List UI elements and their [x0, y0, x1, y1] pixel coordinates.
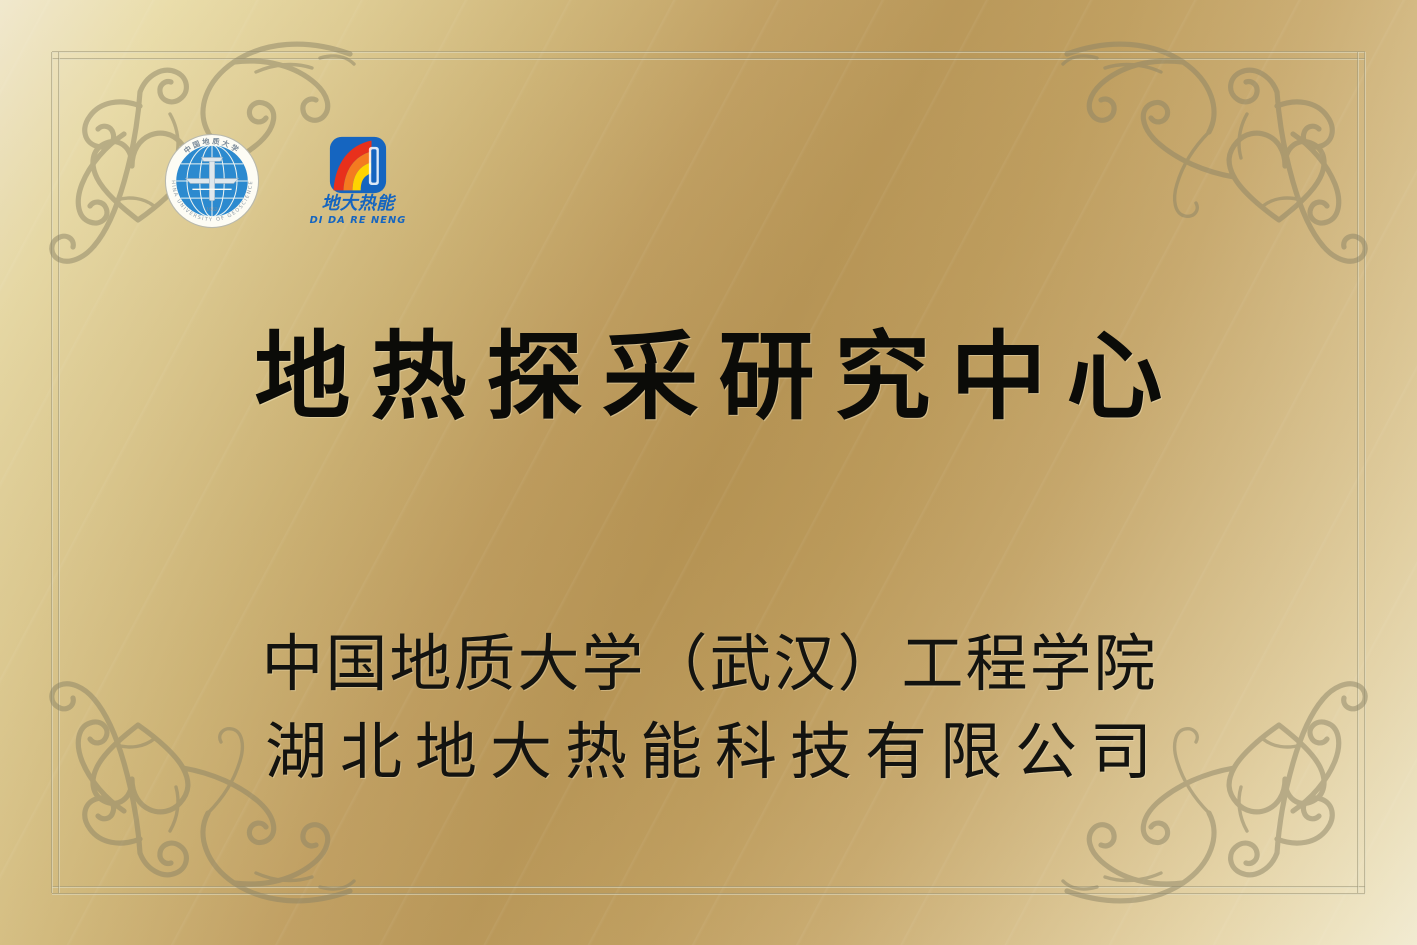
- frame-rule-top-inner: [52, 58, 1365, 60]
- certificate-plaque: 中国地质大学 CHINA UNIVERSITY OF GEOSCIENCES 1…: [0, 0, 1417, 945]
- didareneng-wordmark-cn: 地大热能: [321, 193, 396, 214]
- frame-rule-top-outer: [52, 51, 1365, 53]
- plaque-subtitle-block: 中国地质大学（武汉）工程学院 湖北地大热能科技有限公司: [0, 620, 1417, 796]
- ornament-corner-top-right: [1057, 14, 1397, 274]
- frame-rule-bottom-outer: [52, 886, 1365, 888]
- svg-text:1952: 1952: [206, 207, 218, 213]
- logo-row: 中国地质大学 CHINA UNIVERSITY OF GEOSCIENCES 1…: [163, 132, 433, 230]
- didareneng-wordmark-pinyin: DI DA RE NENG: [310, 215, 407, 226]
- frame-rule-bottom-inner: [52, 893, 1365, 895]
- cug-seal-icon: 中国地质大学 CHINA UNIVERSITY OF GEOSCIENCES 1…: [163, 132, 261, 230]
- didareneng-mark-icon: [329, 136, 387, 194]
- didareneng-lockup: 地大热能 DI DA RE NENG: [283, 136, 433, 227]
- plaque-subtitle-line-university: 中国地质大学（武汉）工程学院: [0, 620, 1417, 708]
- plaque-subtitle-line-company: 湖北地大热能科技有限公司: [0, 708, 1417, 796]
- didareneng-wordmark-icon: 地大热能 DI DA RE NENG: [283, 191, 433, 227]
- plaque-title: 地热探采研究中心: [0, 327, 1417, 428]
